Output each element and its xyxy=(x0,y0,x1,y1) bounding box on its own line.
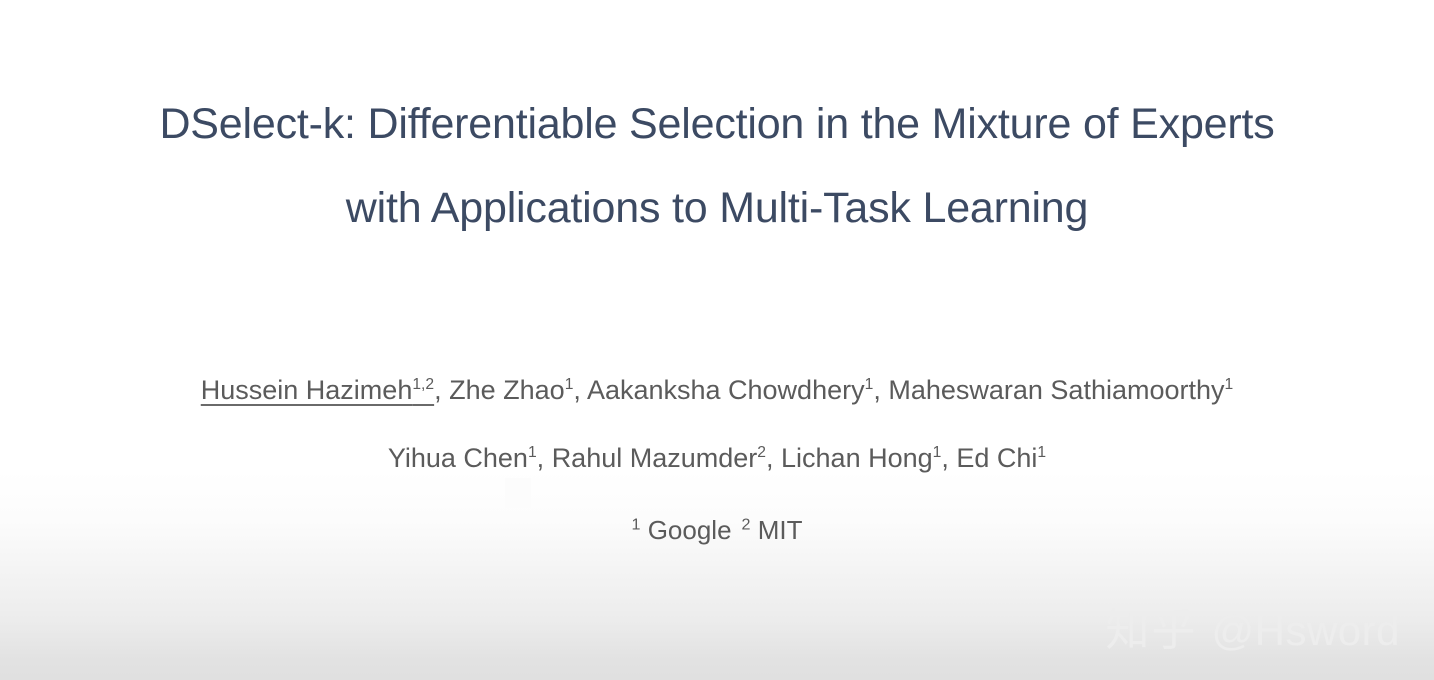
affiliation-list: 1 Google2 MIT xyxy=(0,515,1434,546)
slide-title: DSelect-k: Differentiable Selection in t… xyxy=(0,82,1434,250)
presenter-affiliation-mark: 1,2 xyxy=(412,376,434,393)
author-separator: , xyxy=(941,443,956,473)
watermark-handle: @Hsword xyxy=(1211,607,1400,655)
author-affiliation-mark: 1 xyxy=(528,444,537,461)
author-name: Lichan Hong xyxy=(781,443,933,473)
author-separator: , xyxy=(873,375,888,405)
author-line-1: Hussein Hazimeh1,2, Zhe Zhao1, Aakanksha… xyxy=(0,356,1434,424)
presenter-author-name: Hussein Hazimeh xyxy=(201,375,413,405)
author-name: Ed Chi xyxy=(956,443,1037,473)
title-line-1: DSelect-k: Differentiable Selection in t… xyxy=(0,82,1434,166)
author-affiliation-mark: 1 xyxy=(1225,376,1234,393)
author-separator: , xyxy=(537,443,552,473)
background-ghost-artifact xyxy=(505,478,531,508)
author-name: Rahul Mazumder xyxy=(552,443,758,473)
affiliation-mark: 2 xyxy=(742,515,751,533)
affiliation-name: Google xyxy=(648,515,732,545)
author-name: Aakanksha Chowdhery xyxy=(587,375,865,405)
author-list: Hussein Hazimeh1,2, Zhe Zhao1, Aakanksha… xyxy=(0,356,1434,492)
affiliation-name: MIT xyxy=(758,515,803,545)
watermark: 知乎 @Hsword xyxy=(1105,594,1400,658)
title-line-2: with Applications to Multi-Task Learning xyxy=(0,166,1434,250)
author-name: Zhe Zhao xyxy=(449,375,565,405)
presentation-slide: DSelect-k: Differentiable Selection in t… xyxy=(0,0,1434,680)
presenter-author: Hussein Hazimeh1,2 xyxy=(201,375,434,405)
author-line-2: Yihua Chen1, Rahul Mazumder2, Lichan Hon… xyxy=(0,424,1434,492)
author-separator: , xyxy=(766,443,781,473)
author-affiliation-mark: 1 xyxy=(1037,444,1046,461)
author-separator: , xyxy=(573,375,587,405)
affiliation-mark: 1 xyxy=(631,515,640,533)
zhihu-logo-icon: 知乎 xyxy=(1105,594,1197,658)
author-name: Yihua Chen xyxy=(388,443,528,473)
author-name: Maheswaran Sathiamoorthy xyxy=(888,375,1224,405)
author-affiliation-mark: 2 xyxy=(757,444,766,461)
author-separator: , xyxy=(434,375,449,405)
